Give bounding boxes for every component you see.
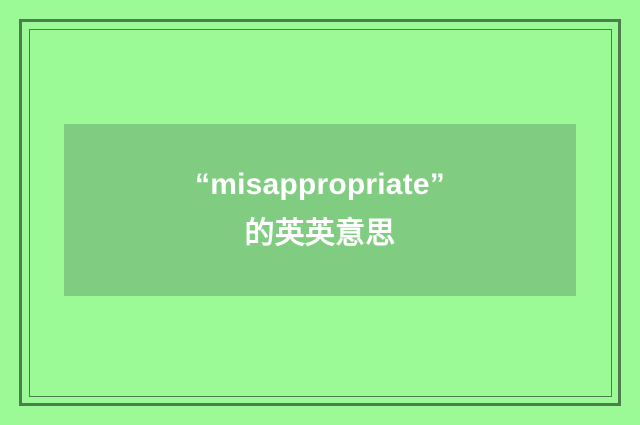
- page-title: “misappropriate” 的英英意思: [180, 161, 460, 258]
- title-card: “misappropriate” 的英英意思: [0, 0, 640, 425]
- title-plate: “misappropriate” 的英英意思: [64, 124, 576, 296]
